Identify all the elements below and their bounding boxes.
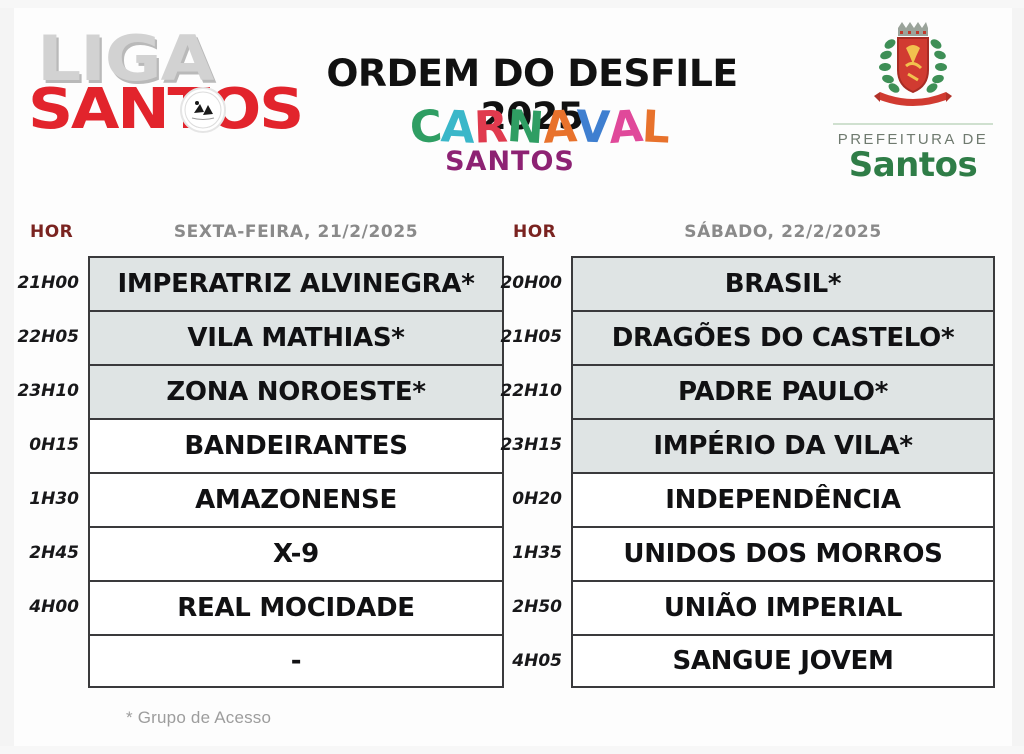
row-time: 20H00 [505,256,571,310]
row-time: 23H10 [22,364,88,418]
carnaval-letter-a-6: A [608,105,644,151]
page-frame-bottom [0,746,1024,754]
table-row: 1H30AMAZONENSE [22,472,504,526]
friday-day-header: SEXTA-FEIRA, 21/2/2025 [88,222,504,242]
saturday-rows-container: 20H00BRASIL*21H05DRAGÕES DO CASTELO*22H1… [505,256,995,688]
row-school-name: PADRE PAULO* [571,364,995,418]
liga-santos-logo: LIGA SANTOS [28,30,268,150]
table-row: 2H45X-9 [22,526,504,580]
saturday-schedule-table: HOR SÁBADO, 22/2/2025 20H00BRASIL*21H05D… [505,200,995,688]
santos-coat-of-arms-icon [820,22,1006,114]
table-row: 0H20INDEPENDÊNCIA [505,472,995,526]
carnaval-letter-n-3: N [506,105,545,151]
carnaval-letter-a-1: A [440,105,475,151]
row-school-name: UNIDOS DOS MORROS [571,526,995,580]
table-row: - [22,634,504,688]
row-time [22,634,88,688]
friday-table-header: HOR SEXTA-FEIRA, 21/2/2025 [22,200,504,256]
table-row: 22H10PADRE PAULO* [505,364,995,418]
saturday-day-header: SÁBADO, 22/2/2025 [571,222,995,242]
row-time: 2H50 [505,580,571,634]
poster-header: LIGA SANTOS ORDEM DO DESFILE 2025 CARNAV… [0,0,1024,200]
table-row: 4H05SANGUE JOVEM [505,634,995,688]
table-row: 21H05DRAGÕES DO CASTELO* [505,310,995,364]
carnaval-letter-c-0: C [409,105,443,151]
liga-logo-line2-row: SANTOS [28,83,268,141]
row-time: 0H15 [22,418,88,472]
row-school-name: DRAGÕES DO CASTELO* [571,310,995,364]
table-row: 2H50UNIÃO IMPERIAL [505,580,995,634]
row-time: 22H05 [22,310,88,364]
row-school-name: VILA MATHIAS* [88,310,504,364]
row-time: 2H45 [22,526,88,580]
row-school-name: BANDEIRANTES [88,418,504,472]
carnaval-letter-r-2: R [474,105,508,150]
access-group-footnote: * Grupo de Acesso [126,708,271,728]
row-time: 1H30 [22,472,88,526]
table-row: 4H00REAL MOCIDADE [22,580,504,634]
row-time: 23H15 [505,418,571,472]
row-time: 21H05 [505,310,571,364]
row-time: 0H20 [505,472,571,526]
friday-rows-container: 21H00IMPERATRIZ ALVINEGRA*22H05VILA MATH… [22,256,504,688]
saturday-table-header: HOR SÁBADO, 22/2/2025 [505,200,995,256]
row-time: 1H35 [505,526,571,580]
carnaval-letter-v-5: V [575,105,610,150]
row-school-name: X-9 [88,526,504,580]
carnaval-santos-logo: CARNAVAL SANTOS [410,106,610,177]
friday-schedule-table: HOR SEXTA-FEIRA, 21/2/2025 21H00IMPERATR… [22,200,504,688]
table-row: 1H35UNIDOS DOS MORROS [505,526,995,580]
carnaval-wordmark: CARNAVAL [410,106,610,150]
table-row: 22H05VILA MATHIAS* [22,310,504,364]
row-time: 4H00 [22,580,88,634]
row-time: 21H00 [22,256,88,310]
row-school-name: BRASIL* [571,256,995,310]
row-school-name: ZONA NOROESTE* [88,364,504,418]
prefeitura-label-line2: Santos [820,148,1006,184]
table-row: 21H00IMPERATRIZ ALVINEGRA* [22,256,504,310]
liga-logo-line2: SANTOS [28,83,297,136]
prefeitura-santos-logo: PREFEITURA DE Santos [820,22,1006,184]
prefeitura-divider [833,123,993,125]
poster-page: LIGA SANTOS ORDEM DO DESFILE 2025 CARNAV… [0,0,1024,754]
carnaval-letter-l-7: L [641,105,670,150]
row-school-name: - [88,634,504,688]
row-school-name: IMPERATRIZ ALVINEGRA* [88,256,504,310]
table-row: 20H00BRASIL* [505,256,995,310]
carnaval-letter-a-4: A [542,105,577,151]
liga-santos-emblem-icon [180,87,226,133]
row-school-name: SANGUE JOVEM [571,634,995,688]
row-school-name: INDEPENDÊNCIA [571,472,995,526]
row-school-name: REAL MOCIDADE [88,580,504,634]
row-time: 22H10 [505,364,571,418]
row-school-name: AMAZONENSE [88,472,504,526]
saturday-hour-header: HOR [513,222,556,242]
friday-hour-header: HOR [30,222,73,242]
table-row: 0H15BANDEIRANTES [22,418,504,472]
table-row: 23H15IMPÉRIO DA VILA* [505,418,995,472]
row-time: 4H05 [505,634,571,688]
table-row: 23H10ZONA NOROESTE* [22,364,504,418]
row-school-name: UNIÃO IMPERIAL [571,580,995,634]
row-school-name: IMPÉRIO DA VILA* [571,418,995,472]
